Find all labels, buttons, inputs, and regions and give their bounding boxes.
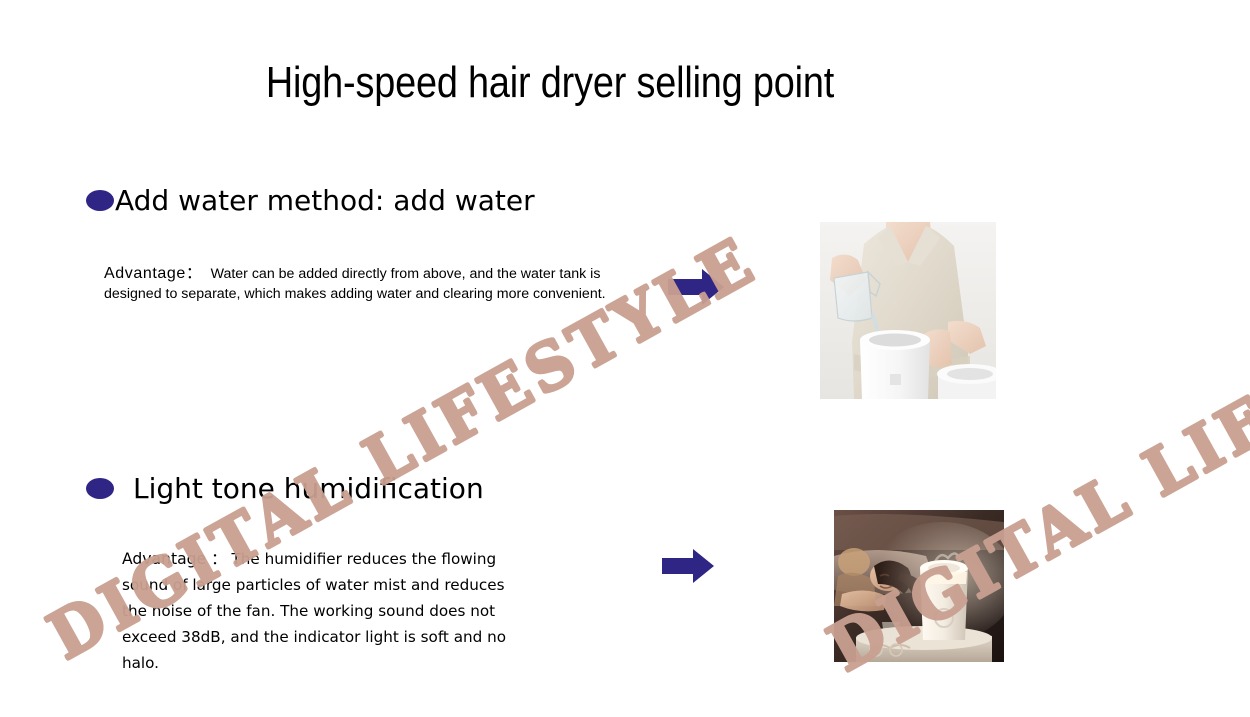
advantage-text-2: The humidifier reduces the flowing sound… xyxy=(122,550,506,672)
bullet-ellipse-icon xyxy=(86,478,114,499)
bullet-heading-2: Light tone humidification xyxy=(86,472,484,505)
page-title: High-speed hair dryer selling point xyxy=(77,58,1023,108)
bullet-ellipse-icon xyxy=(86,190,114,211)
product-photo-add-water xyxy=(820,222,996,399)
advantage-keyword-2: Advantage ： xyxy=(122,550,227,568)
right-arrow-icon-2 xyxy=(662,549,714,588)
product-photo-night-mode xyxy=(834,510,1004,662)
advantage-keyword-1: Advantage： xyxy=(104,265,203,282)
slide-canvas: High-speed hair dryer selling point Add … xyxy=(0,0,1250,717)
advantage-block-2: Advantage ： The humidifier reduces the f… xyxy=(122,546,522,676)
right-arrow-icon-1 xyxy=(668,269,724,310)
bullet-heading-label-1: Add water method: add water xyxy=(115,184,535,217)
bullet-heading-1: Add water method: add water xyxy=(86,184,535,217)
advantage-block-1: Advantage： Water can be added directly f… xyxy=(104,264,614,304)
bullet-heading-label-2: Light tone humidification xyxy=(133,472,484,505)
